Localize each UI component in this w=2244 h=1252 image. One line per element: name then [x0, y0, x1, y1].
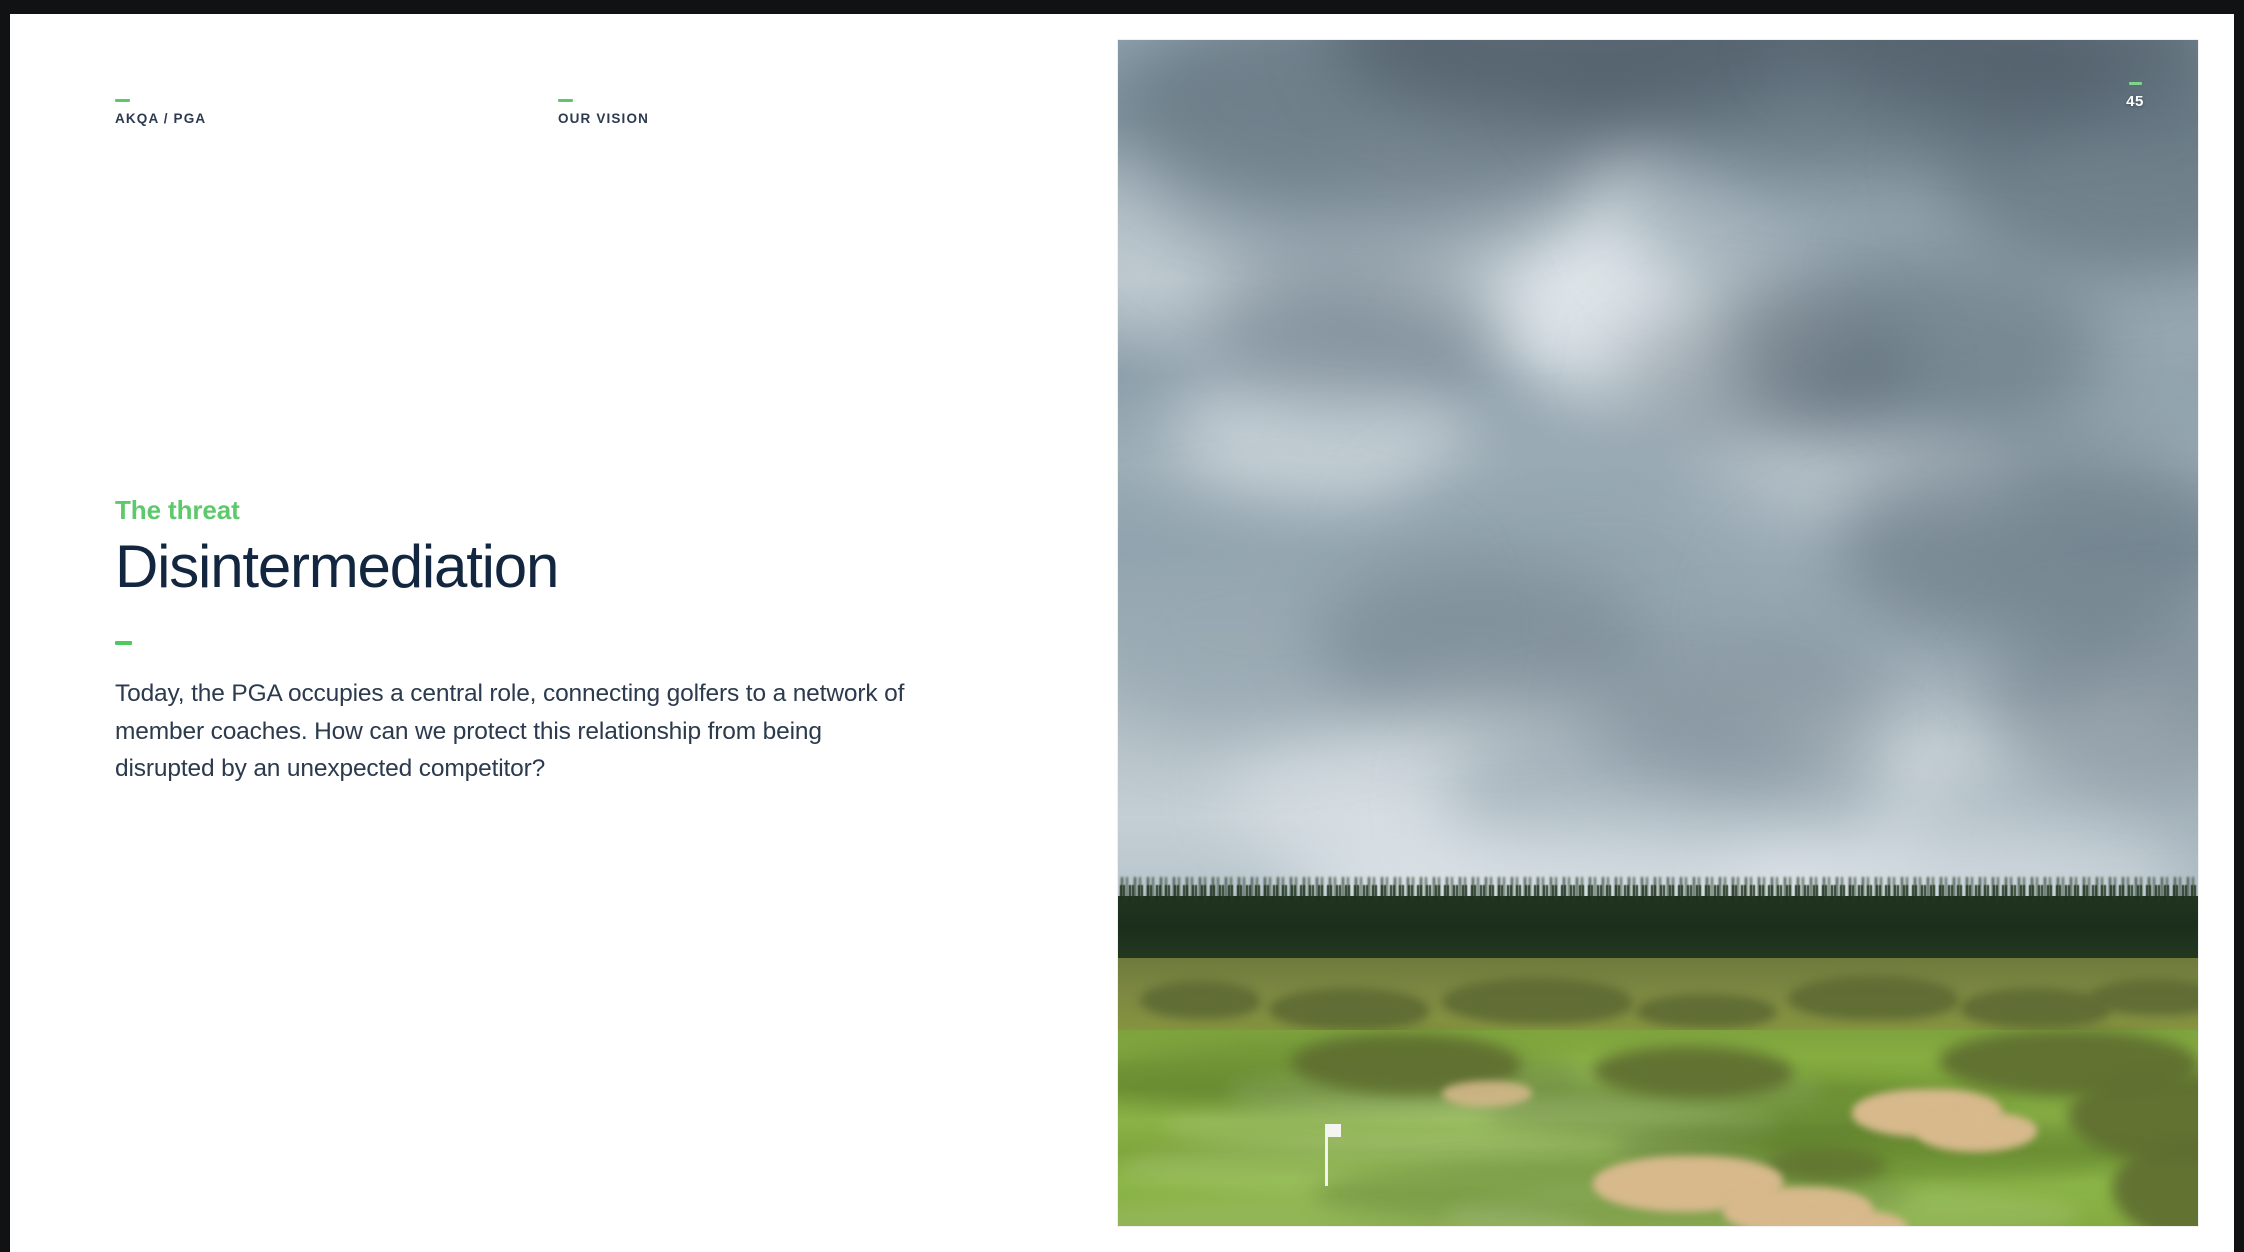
- presentation-slide: AKQA / PGA OUR VISION The threat Disinte…: [10, 14, 2234, 1252]
- fairway-layer: [1118, 1030, 2198, 1226]
- eyebrow-akqa-pga: AKQA / PGA: [115, 99, 206, 126]
- divider-rule-icon: [115, 641, 132, 645]
- treeline-layer: [1118, 896, 2198, 962]
- eyebrow-left-label: AKQA / PGA: [115, 111, 206, 126]
- page-title: Disintermediation: [115, 535, 935, 599]
- eyebrow-rule-icon: [558, 99, 573, 102]
- flagstick-icon: [1325, 1124, 1328, 1186]
- photo-artwork: [1118, 40, 2198, 1226]
- copy-block: The threat Disintermediation Today, the …: [115, 496, 935, 787]
- eyebrow-our-vision: OUR VISION: [558, 99, 649, 126]
- page-number-rule-icon: [2129, 82, 2142, 85]
- hero-photo: 45: [1118, 40, 2198, 1226]
- page-number: 45: [2126, 82, 2144, 110]
- eyebrow-rule-icon: [115, 99, 130, 102]
- body-paragraph: Today, the PGA occupies a central role, …: [115, 675, 915, 787]
- eyebrow-right-label: OUR VISION: [558, 111, 649, 126]
- kicker-text: The threat: [115, 496, 935, 526]
- slide-viewer: AKQA / PGA OUR VISION The threat Disinte…: [0, 0, 2244, 1252]
- page-number-value: 45: [2126, 93, 2144, 110]
